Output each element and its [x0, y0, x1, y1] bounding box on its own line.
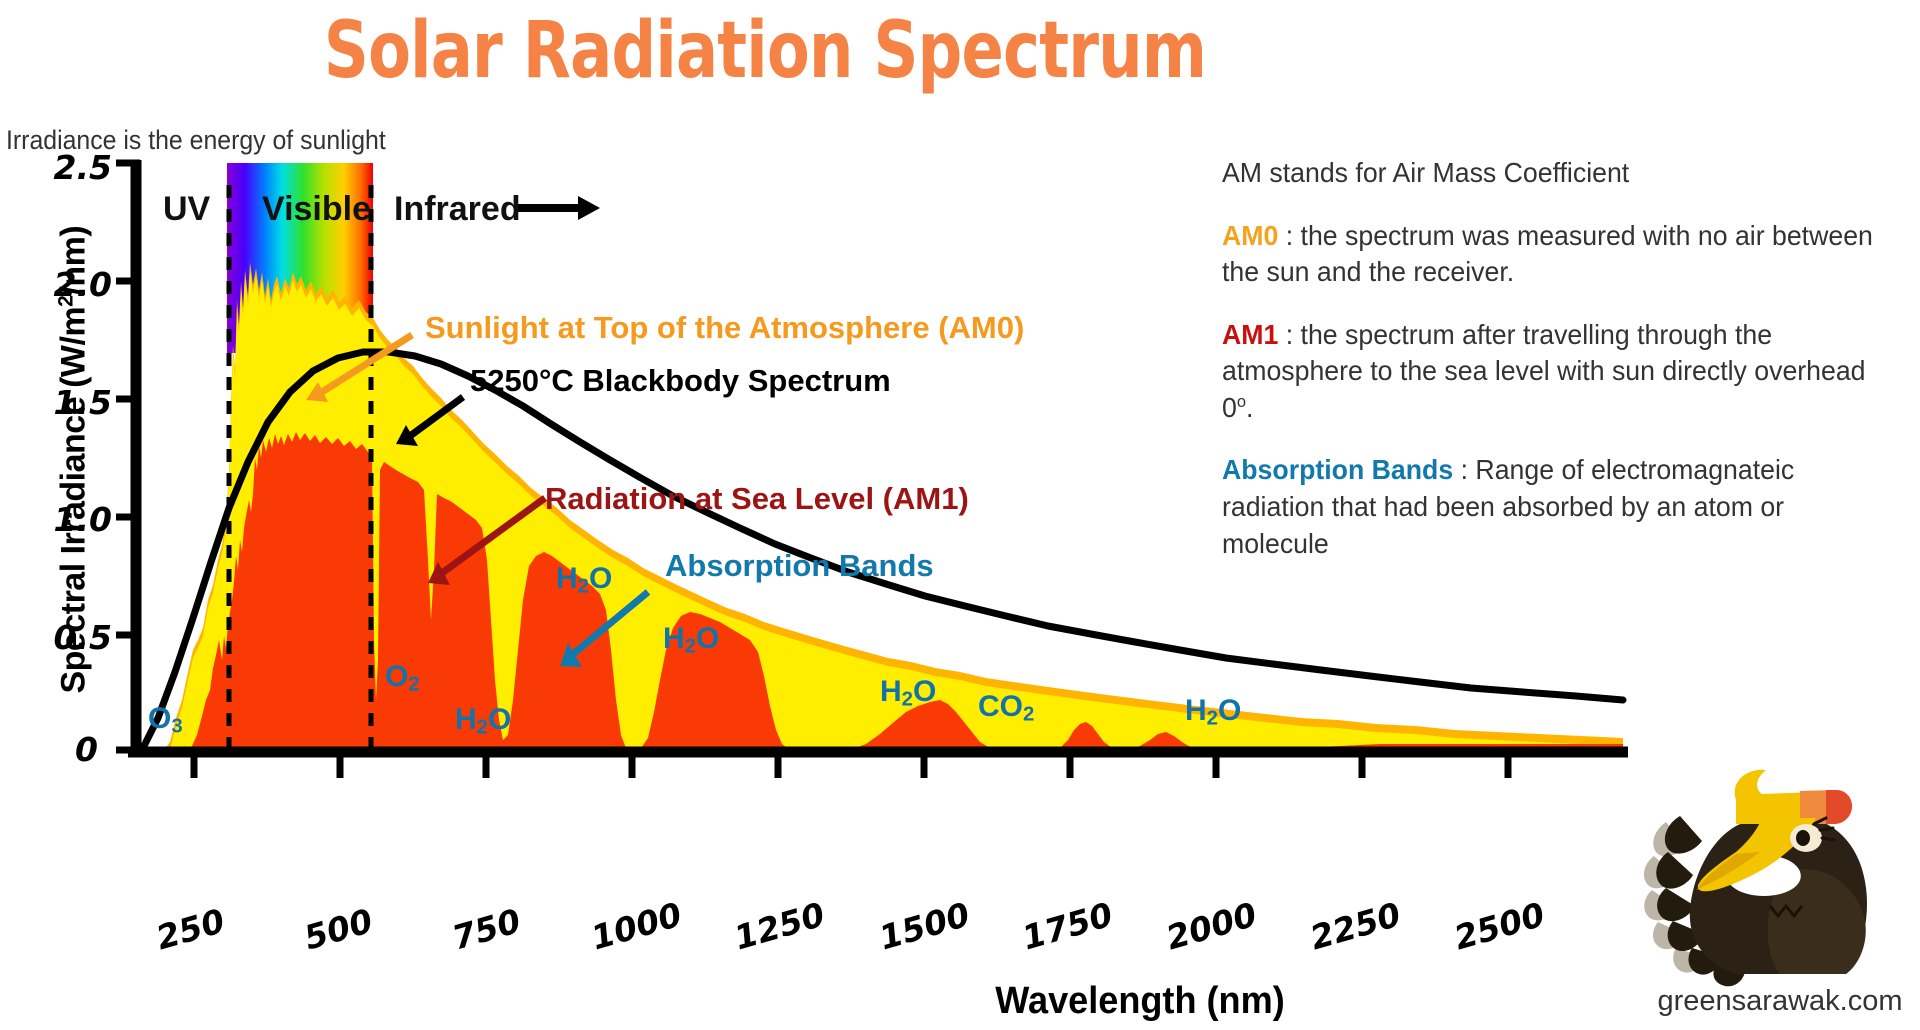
molecule-label-h2o-1130: H2O [556, 562, 612, 598]
molecule-label-h2o-1850: H2O [880, 675, 936, 711]
panel-body-am0: : the spectrum was measured with no air … [1222, 220, 1873, 288]
molecule-label-h2o-2400: H2O [1185, 694, 1241, 730]
panel-degree-symbol: o [1237, 392, 1246, 411]
x-axis-label: Wavelength (nm) [995, 980, 1284, 1023]
molecule-label-o2: O2 [385, 660, 420, 696]
panel-key-absorption: Absorption Bands [1222, 454, 1453, 485]
band-label-infrared: Infrared [394, 190, 521, 229]
hornbill-casque-red [1826, 790, 1852, 824]
molecule-label-co2: CO2 [978, 690, 1034, 726]
molecule-label-h2o-940: H2O [455, 703, 511, 739]
panel-paragraph-am1: AM1 : the spectrum after travelling thro… [1222, 317, 1891, 427]
hornbill-eye-pupil [1796, 830, 1810, 846]
annotation-absorption-bands: Absorption Bands [665, 548, 934, 584]
molecule-label-h2o-1400: H2O [663, 622, 719, 658]
panel-body-am1-a: : the spectrum after travelling through … [1222, 319, 1866, 423]
legend-explanation-panel: AM stands for Air Mass Coefficient AM0 :… [1222, 155, 1912, 588]
annotation-am0: Sunlight at Top of the Atmosphere (AM0) [425, 310, 1024, 346]
annotation-blackbody: 5250°C Blackbody Spectrum [470, 363, 891, 399]
band-label-uv: UV [163, 190, 210, 229]
panel-paragraph-absorption: Absorption Bands : Range of electromagna… [1222, 452, 1891, 562]
annotation-am1: Radiation at Sea Level (AM1) [545, 481, 969, 517]
panel-paragraph-am0: AM0 : the spectrum was measured with no … [1222, 218, 1891, 291]
brand-label: greensarawak.com [1658, 985, 1903, 1018]
panel-key-am1: AM1 [1222, 319, 1278, 350]
band-label-visible: Visible [262, 190, 371, 229]
hornbill-logo [1640, 760, 1910, 990]
panel-paragraph-am-definition: AM stands for Air Mass Coefficient [1222, 155, 1891, 192]
infrared-arrow-icon [516, 196, 600, 220]
panel-text-am: AM stands for Air Mass Coefficient [1222, 157, 1629, 188]
panel-body-am1-b: . [1246, 392, 1253, 423]
panel-key-am0: AM0 [1222, 220, 1278, 251]
molecule-label-o3: O3O3 [148, 702, 183, 738]
